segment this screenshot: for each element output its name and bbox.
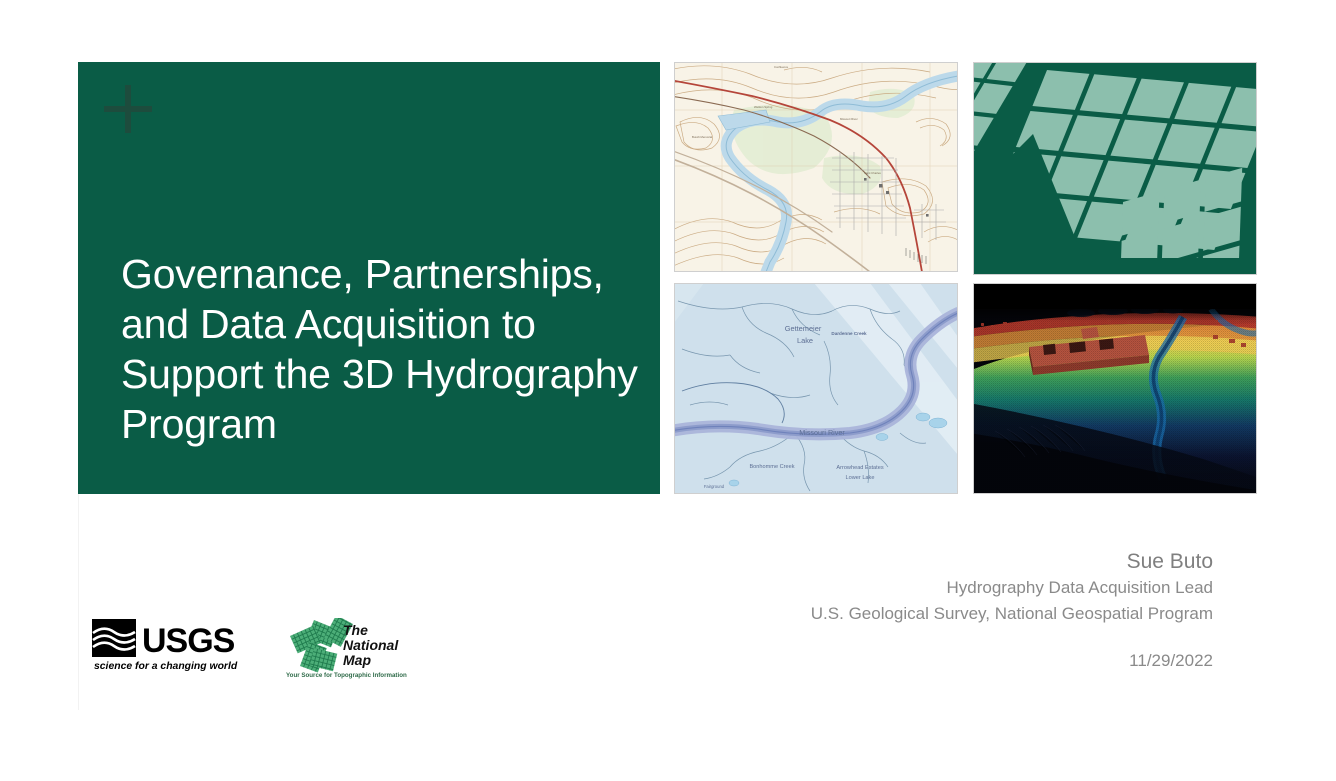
usgs-tagline-text: science for a changing world <box>258 619 259 620</box>
svg-text:science for a changing world: science for a changing world <box>94 661 238 672</box>
svg-text:Busch Memorial: Busch Memorial <box>692 135 712 139</box>
svg-text:Saint Charles: Saint Charles <box>864 171 881 175</box>
svg-text:The: The <box>343 622 368 638</box>
title-slide: Governance, Partnerships, and Data Acqui… <box>0 0 1336 781</box>
svg-text:Lake: Lake <box>797 336 813 345</box>
image-topographic-map: Weldon Spring Saint Charles Busch Memori… <box>674 62 958 272</box>
usgs-logo: USGS science for a changing world USGS s… <box>92 619 258 673</box>
svg-text:Bonhomme Creek: Bonhomme Creek <box>749 464 794 470</box>
svg-text:Dardenne Creek: Dardenne Creek <box>831 331 867 336</box>
author-block: Sue Buto Hydrography Data Acquisition Le… <box>811 548 1213 627</box>
national-map-line3: Map <box>408 618 409 619</box>
slide-date: 11/29/2022 <box>1129 651 1213 671</box>
svg-text:Arrowhead Estates: Arrowhead Estates <box>836 465 883 471</box>
svg-text:Weldon Spring: Weldon Spring <box>754 105 773 109</box>
author-organization: U.S. Geological Survey, National Geospat… <box>811 601 1213 627</box>
svg-text:Map: Map <box>343 652 371 668</box>
plus-icon <box>104 85 152 133</box>
usgs-wordmark-text: USGS <box>258 619 259 620</box>
svg-text:USGS: USGS <box>142 622 235 660</box>
national-map-line2: National <box>408 618 409 619</box>
svg-text:Your Source for Topographic In: Your Source for Topographic Information <box>286 672 407 679</box>
svg-text:Lower Lake: Lower Lake <box>846 475 875 481</box>
national-map-tagline: Your Source for Topographic Information <box>408 618 409 619</box>
svg-text:Confluence: Confluence <box>774 65 789 69</box>
image-lidar-point-cloud: Colorized lidar point cloud showing 3D t… <box>973 283 1257 494</box>
page-title: Governance, Partnerships, and Data Acqui… <box>121 249 641 449</box>
image-hydrography-map: Gettemeier Lake Dardenne Creek Missouri … <box>674 283 958 494</box>
author-name: Sue Buto <box>811 548 1213 575</box>
title-panel: Governance, Partnerships, and Data Acqui… <box>78 62 660 494</box>
svg-text:Missouri River: Missouri River <box>840 117 858 121</box>
svg-text:Gettemeier: Gettemeier <box>785 324 822 333</box>
svg-text:Missouri River: Missouri River <box>799 428 845 437</box>
svg-text:Fairground: Fairground <box>704 484 725 489</box>
image-national-map-motif: Zoomed National Map logo motif of tilted… <box>973 62 1257 275</box>
national-map-line1: The <box>408 618 409 619</box>
svg-text:National: National <box>343 637 399 653</box>
author-role: Hydrography Data Acquisition Lead <box>811 575 1213 601</box>
national-map-logo: The National Map Your Source for Topogra… <box>284 618 408 680</box>
